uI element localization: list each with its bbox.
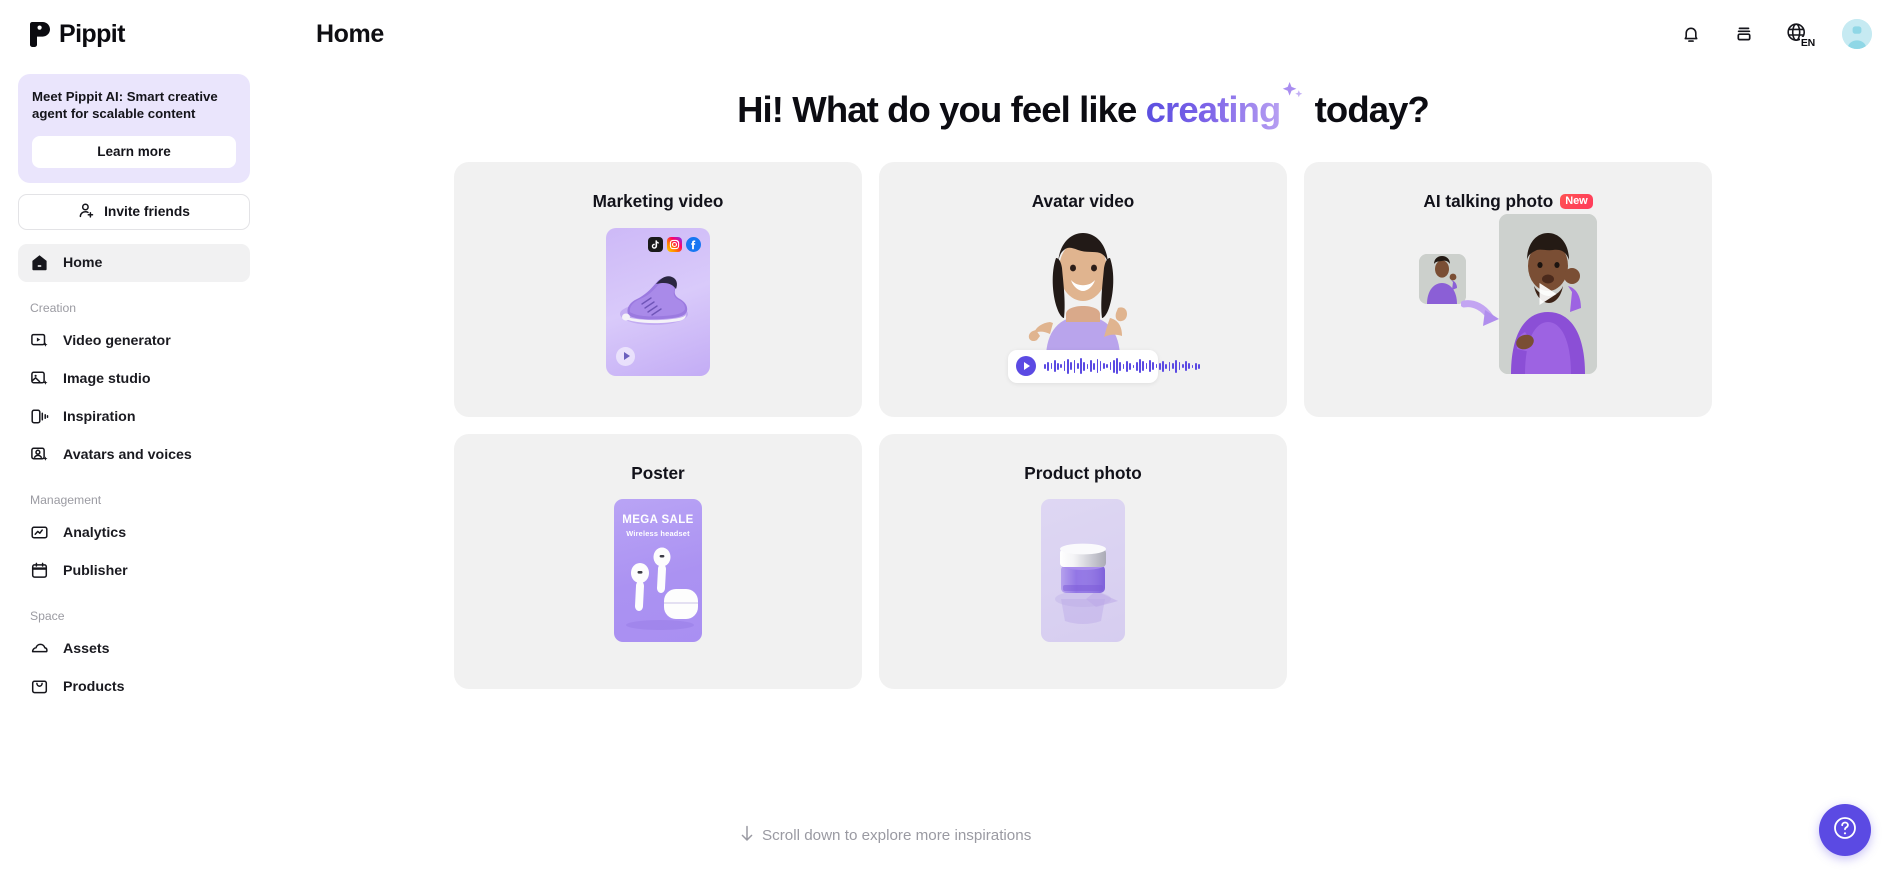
sidebar: Pippit Meet Pippit AI: Smart creative ag…	[0, 0, 268, 882]
sidebar-item-label: Publisher	[63, 563, 128, 579]
top-bar-actions: EN	[1679, 19, 1872, 49]
waveform-bar	[1156, 364, 1158, 368]
waveform-bar	[1192, 365, 1194, 368]
sidebar-item-label: Home	[63, 255, 102, 271]
language-code: EN	[1800, 37, 1816, 49]
sidebar-item-label: Video generator	[63, 333, 171, 349]
sidebar-item-label: Avatars and voices	[63, 447, 192, 463]
waveform-bar	[1090, 360, 1092, 372]
image-sparkle-icon	[30, 369, 49, 388]
sidebar-item-avatars-and-voices[interactable]: Avatars and voices	[18, 436, 250, 474]
waveform-bar	[1126, 361, 1128, 372]
sidebar-group-space: Space	[18, 590, 250, 630]
waveform-bar	[1051, 363, 1053, 369]
presenter-image	[1008, 218, 1158, 358]
sparkle-icon	[1281, 75, 1305, 117]
audio-player-bar[interactable]	[1008, 350, 1158, 383]
card-marketing-video[interactable]: Marketing video	[454, 162, 862, 417]
waveform-bar	[1044, 364, 1046, 369]
hero-suffix: today?	[1305, 89, 1428, 130]
avatar-video-thumb	[1008, 218, 1158, 383]
poster-headline: MEGA SALE	[614, 514, 702, 526]
waveform-bar	[1077, 363, 1079, 369]
waveform-bar	[1097, 359, 1099, 373]
invite-friends-button[interactable]: Invite friends	[18, 194, 250, 230]
instagram-icon	[667, 237, 682, 252]
home-icon	[30, 253, 49, 272]
sidebar-item-assets[interactable]: Assets	[18, 630, 250, 668]
hero-heading: Hi! What do you feel like creating today…	[268, 75, 1898, 131]
top-bar: Home	[268, 0, 1898, 68]
ai-talking-photo-thumb	[1419, 214, 1597, 386]
sidebar-group-management: Management	[18, 474, 250, 514]
status-badge: New	[1560, 194, 1592, 209]
cloud-icon	[30, 639, 49, 658]
waveform-bar	[1123, 364, 1125, 369]
sidebar-item-home[interactable]: Home	[18, 244, 250, 282]
waveform-bar	[1149, 360, 1151, 372]
app-root: Pippit Meet Pippit AI: Smart creative ag…	[0, 0, 1898, 882]
analytics-chart-icon	[30, 523, 49, 542]
sidebar-item-label: Inspiration	[63, 409, 136, 425]
play-icon[interactable]	[616, 347, 635, 366]
sidebar-item-analytics[interactable]: Analytics	[18, 514, 250, 552]
sidebar-item-products[interactable]: Products	[18, 668, 250, 706]
waveform-bar	[1106, 364, 1108, 368]
user-avatar-icon	[1842, 19, 1872, 49]
waveform-bar	[1087, 364, 1089, 369]
play-icon[interactable]	[1540, 283, 1557, 305]
sidebar-nav: Home Creation Video generator	[18, 244, 250, 706]
sidebar-group-creation: Creation	[18, 282, 250, 322]
invite-friends-label: Invite friends	[104, 204, 190, 219]
play-icon[interactable]	[1016, 356, 1036, 376]
language-selector[interactable]: EN	[1785, 21, 1813, 47]
waveform-bar	[1080, 358, 1082, 374]
waveform-bar	[1064, 361, 1066, 371]
waveform-bar	[1162, 361, 1164, 372]
cosmetic-jar-image	[1041, 499, 1125, 642]
pippit-logo-icon	[28, 21, 51, 48]
sidebar-item-inspiration[interactable]: Inspiration	[18, 398, 250, 436]
earbuds-image	[614, 539, 702, 634]
waveform-bar	[1070, 362, 1072, 370]
waveform-bar	[1139, 359, 1141, 373]
learn-more-button[interactable]: Learn more	[32, 136, 236, 168]
social-icons	[648, 237, 701, 252]
card-product-photo[interactable]: Product photo	[879, 434, 1287, 689]
hero-prefix: Hi! What do you feel like	[737, 89, 1146, 130]
main-content: Home	[268, 0, 1898, 882]
product-photo-thumb	[1041, 499, 1125, 642]
waveform-bar	[1113, 360, 1115, 373]
waveform-bar	[1185, 361, 1187, 371]
sidebar-item-image-studio[interactable]: Image studio	[18, 360, 250, 398]
phone-swipe-icon	[30, 407, 49, 426]
card-title: Avatar video	[879, 191, 1287, 212]
user-plus-icon	[78, 202, 95, 222]
waveform-bar	[1188, 363, 1190, 369]
waveform-bar	[1146, 363, 1148, 369]
brand-logo[interactable]: Pippit	[18, 0, 250, 68]
scroll-hint[interactable]: Scroll down to explore more inspirations	[740, 825, 1031, 846]
brand-name: Pippit	[59, 20, 125, 49]
waveform-bar	[1103, 363, 1105, 369]
card-title: Marketing video	[454, 191, 862, 212]
card-title-label: Poster	[631, 463, 685, 484]
card-title-label: Product photo	[1024, 463, 1141, 484]
generated-video	[1499, 214, 1597, 374]
waveform-bar	[1142, 361, 1144, 371]
card-avatar-video[interactable]: Avatar video	[879, 162, 1287, 417]
waveform-bar	[1198, 364, 1200, 369]
hero-highlight: creating	[1146, 89, 1281, 130]
arrow-down-icon	[740, 825, 754, 846]
poster-thumb: MEGA SALE Wireless headset	[614, 499, 702, 642]
card-title: Poster	[454, 463, 862, 484]
waveform-bar	[1195, 363, 1197, 370]
tiktok-icon	[648, 237, 663, 252]
waveform-bar	[1110, 362, 1112, 370]
audio-waveform-icon	[1044, 357, 1200, 375]
waveform-bar	[1074, 360, 1076, 373]
sidebar-item-video-generator[interactable]: Video generator	[18, 322, 250, 360]
sidebar-item-label: Assets	[63, 641, 110, 657]
sidebar-item-label: Analytics	[63, 525, 126, 541]
source-photo	[1419, 254, 1466, 304]
waveform-bar	[1133, 365, 1135, 368]
card-title-label: Avatar video	[1032, 191, 1135, 212]
sidebar-item-label: Image studio	[63, 371, 151, 387]
waveform-bar	[1119, 362, 1121, 371]
waveform-bar	[1175, 360, 1177, 373]
card-title-label: Marketing video	[593, 191, 724, 212]
waveform-bar	[1172, 363, 1174, 369]
promo-banner: Meet Pippit AI: Smart creative agent for…	[18, 74, 250, 183]
waveform-bar	[1054, 360, 1056, 372]
video-sparkle-icon	[30, 331, 49, 350]
scroll-hint-label: Scroll down to explore more inspirations	[762, 827, 1031, 844]
question-mark-icon	[1832, 815, 1858, 846]
facebook-icon	[686, 237, 701, 252]
waveform-bar	[1047, 362, 1049, 371]
card-title: AI talking photo New	[1304, 191, 1712, 212]
waveform-bar	[1182, 364, 1184, 368]
avatar[interactable]	[1842, 19, 1872, 49]
waveform-bar	[1093, 363, 1095, 370]
waveform-bar	[1060, 364, 1062, 368]
waveform-bar	[1136, 362, 1138, 371]
card-ai-talking-photo[interactable]: AI talking photo New	[1304, 162, 1712, 417]
waveform-bar	[1067, 359, 1069, 374]
waveform-bar	[1083, 362, 1085, 371]
waveform-bar	[1152, 362, 1154, 370]
page-title: Home	[316, 20, 384, 49]
waveform-bar	[1179, 362, 1181, 370]
waveform-bar	[1057, 363, 1059, 370]
waveform-bar	[1129, 363, 1131, 370]
waveform-bar	[1116, 358, 1118, 374]
sneaker-image	[614, 262, 702, 334]
sidebar-item-label: Products	[63, 679, 125, 695]
card-grid: Marketing video	[454, 162, 1712, 689]
bell-icon[interactable]	[1679, 22, 1703, 46]
poster-subline: Wireless headset	[614, 529, 702, 538]
card-title-label: AI talking photo	[1423, 191, 1553, 212]
calendar-icon	[30, 561, 49, 580]
help-button[interactable]	[1819, 804, 1871, 856]
waveform-bar	[1165, 364, 1167, 369]
promo-text: Meet Pippit AI: Smart creative agent for…	[32, 88, 236, 123]
bag-icon	[30, 677, 49, 696]
waveform-bar	[1159, 363, 1161, 370]
waveform-bar	[1169, 362, 1171, 371]
marketing-video-thumb	[606, 228, 710, 376]
waveform-bar	[1100, 361, 1102, 371]
avatar-sparkle-icon	[30, 445, 49, 464]
layers-icon[interactable]	[1732, 22, 1756, 46]
card-poster[interactable]: Poster MEGA SALE Wireless headset	[454, 434, 862, 689]
card-title: Product photo	[879, 463, 1287, 484]
sidebar-item-publisher[interactable]: Publisher	[18, 552, 250, 590]
